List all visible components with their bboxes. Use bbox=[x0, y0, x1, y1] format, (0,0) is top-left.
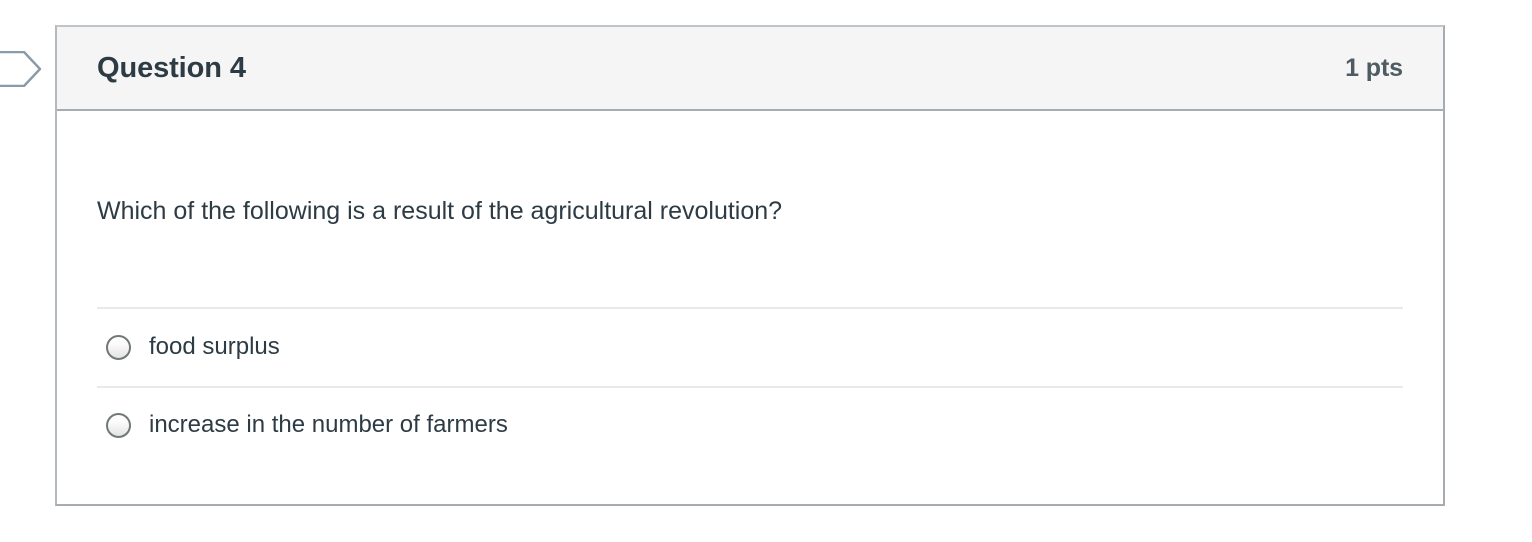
radio-button-icon[interactable] bbox=[106, 413, 131, 438]
flag-pointer-icon[interactable] bbox=[0, 51, 42, 87]
answer-option-label: increase in the number of farmers bbox=[149, 413, 508, 437]
radio-button-icon[interactable] bbox=[106, 335, 131, 360]
question-header: Question 4 1 pts bbox=[57, 27, 1443, 111]
answer-option-row[interactable]: increase in the number of farmers bbox=[97, 386, 1403, 463]
answer-option-label: food surplus bbox=[149, 335, 280, 359]
answer-options-list: food surplus increase in the number of f… bbox=[97, 307, 1403, 463]
question-prompt-text: Which of the following is a result of th… bbox=[97, 111, 1403, 229]
answer-option-row[interactable]: food surplus bbox=[97, 309, 1403, 386]
question-title: Question 4 bbox=[97, 54, 246, 83]
question-body: Which of the following is a result of th… bbox=[57, 111, 1443, 504]
question-points-badge: 1 pts bbox=[1345, 56, 1403, 81]
question-card: Question 4 1 pts Which of the following … bbox=[55, 25, 1445, 506]
